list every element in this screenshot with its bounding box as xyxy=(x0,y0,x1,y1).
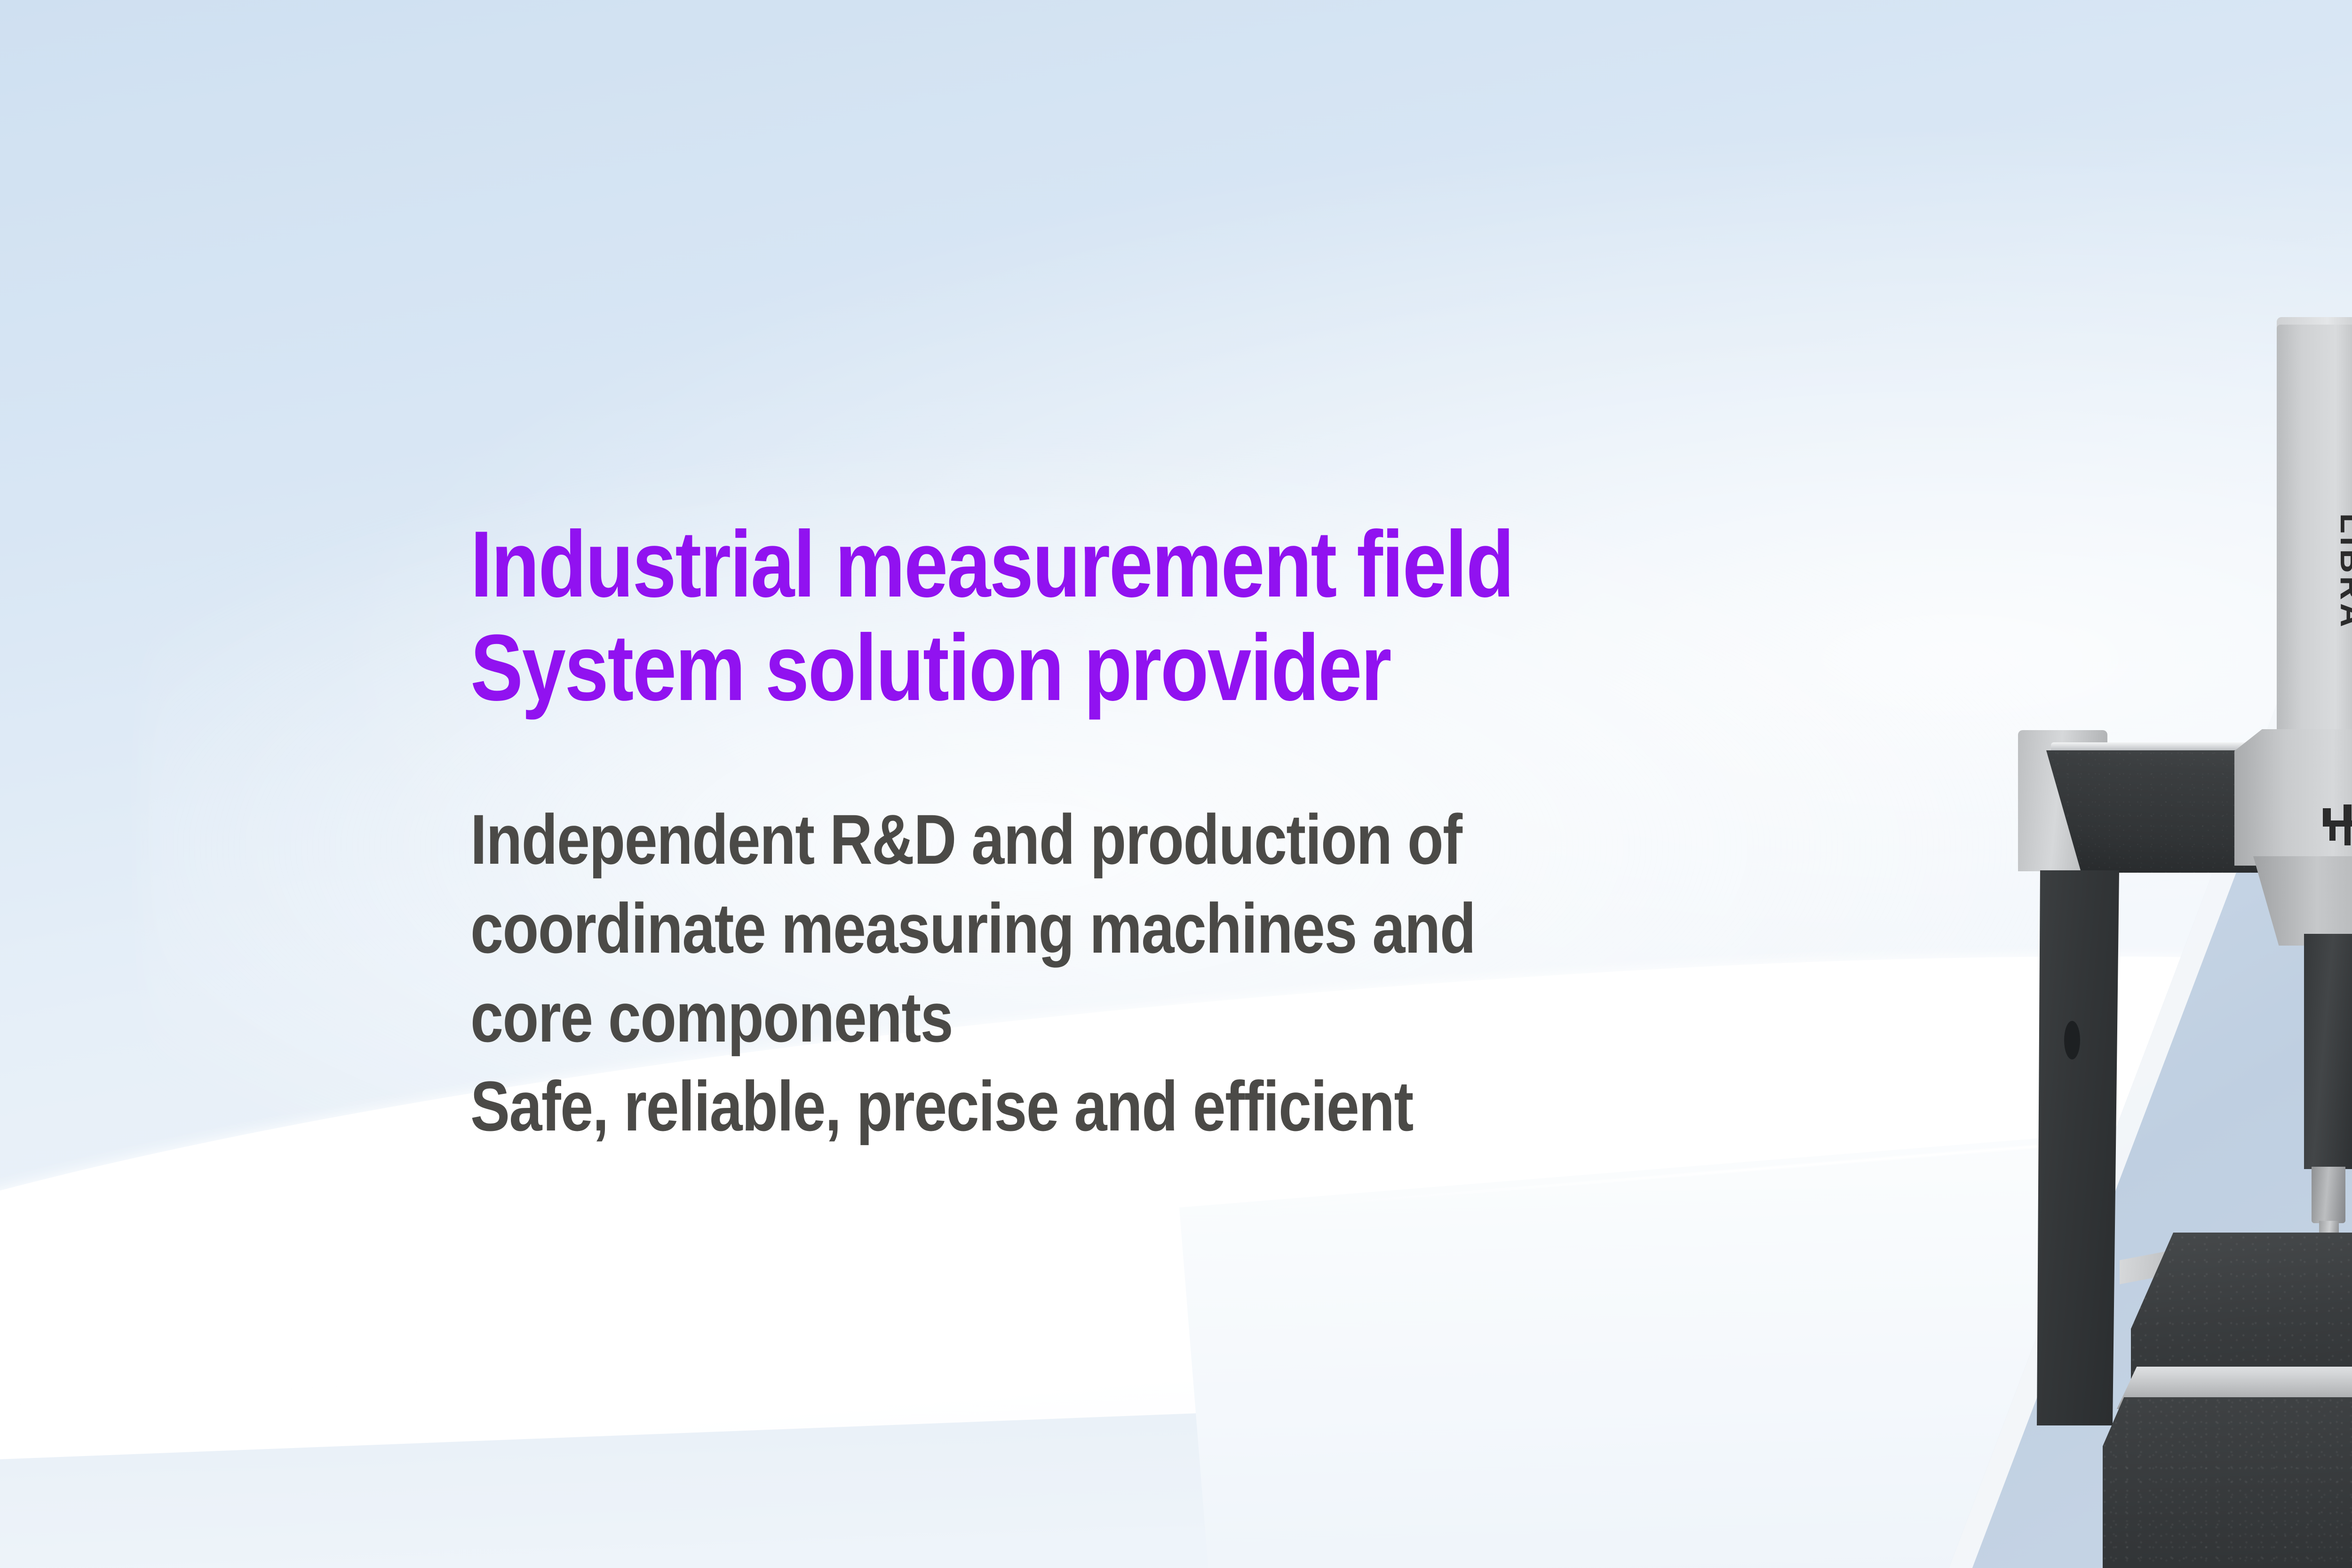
headline: Industrial measurement field System solu… xyxy=(470,513,1695,720)
subcopy: Independent R&D and production of coordi… xyxy=(470,795,1695,1151)
cmm-brand-label: LIBRA xyxy=(2285,480,2352,630)
copy-block: Industrial measurement field System solu… xyxy=(470,513,1929,1151)
cmm-probe-body xyxy=(2312,1167,2345,1223)
cmm-leg-left-port xyxy=(2064,1021,2080,1059)
cmm-z-ram xyxy=(2304,934,2352,1169)
cmm-leg-left xyxy=(2037,870,2119,1425)
hero-banner: Industrial measurement field System solu… xyxy=(0,0,2352,1568)
cmm-base-texture xyxy=(2103,1397,2352,1568)
libra-gauge-logo-icon xyxy=(2319,804,2352,847)
cmm-carriage-taper xyxy=(2253,856,2352,946)
cmm-granite-table-texture xyxy=(2131,1233,2352,1388)
cmm-machine: LIBRA xyxy=(1990,325,2352,1510)
